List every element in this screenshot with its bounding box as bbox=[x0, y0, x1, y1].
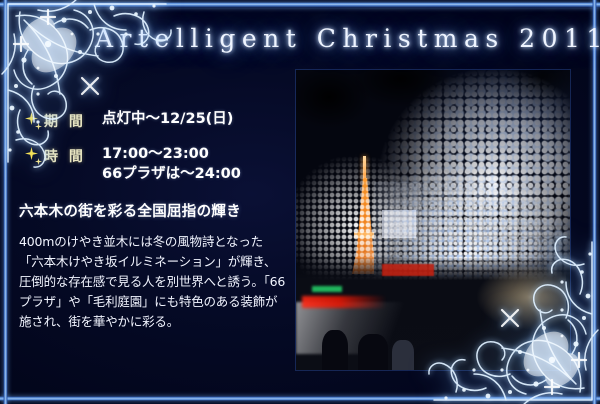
christmas-poster: Artelligent Christmas 2011 期 間 点灯中～12/25… bbox=[0, 0, 600, 404]
car-tail-lights bbox=[302, 296, 386, 308]
person-silhouette bbox=[392, 340, 414, 370]
info-row-hours: 時 間 17:00～23:00 66プラザは～24:00 bbox=[24, 145, 282, 184]
info-value-hours-line2: 66プラザは～24:00 bbox=[102, 165, 282, 185]
traffic-signal-green bbox=[312, 286, 342, 292]
info-row-period: 期 間 点灯中～12/25(日) bbox=[24, 110, 282, 133]
person-silhouette bbox=[322, 330, 348, 370]
info-value-hours: 17:00～23:00 66プラザは～24:00 bbox=[102, 145, 282, 184]
street-level bbox=[296, 258, 570, 370]
shop-window-glow bbox=[476, 264, 566, 330]
sparkle-icon bbox=[24, 111, 44, 133]
frame-top-line bbox=[0, 2, 600, 8]
body-copy: 400mのけやき並木には冬の風物詩となった「六本木けやき坂イルミネーション」が輝… bbox=[19, 232, 287, 332]
frame-left-line bbox=[3, 0, 8, 404]
person-silhouette bbox=[358, 334, 388, 370]
info-value-period: 点灯中～12/25(日) bbox=[102, 110, 282, 130]
info-value-hours-line1: 17:00～23:00 bbox=[102, 146, 209, 162]
section-headline: 六本木の街を彩る全国屈指の輝き bbox=[19, 200, 289, 221]
illumination-photo bbox=[296, 70, 570, 370]
photo-scene bbox=[296, 70, 570, 370]
event-info-block: 期 間 点灯中～12/25(日) 時 間 17:00～23:00 66プラザは～… bbox=[24, 110, 282, 196]
info-label-period: 期 間 bbox=[44, 110, 102, 131]
red-sign bbox=[382, 264, 434, 276]
frame-bottom-line bbox=[0, 396, 600, 401]
body-paragraph: 400mのけやき並木には冬の風物詩となった「六本木けやき坂イルミネーション」が輝… bbox=[19, 232, 287, 332]
pedestrians bbox=[314, 324, 434, 370]
frame-right-line bbox=[592, 0, 597, 404]
sparkle-icon bbox=[24, 146, 44, 168]
info-label-hours: 時 間 bbox=[44, 145, 102, 166]
page-title: Artelligent Christmas 2011 bbox=[95, 24, 525, 53]
